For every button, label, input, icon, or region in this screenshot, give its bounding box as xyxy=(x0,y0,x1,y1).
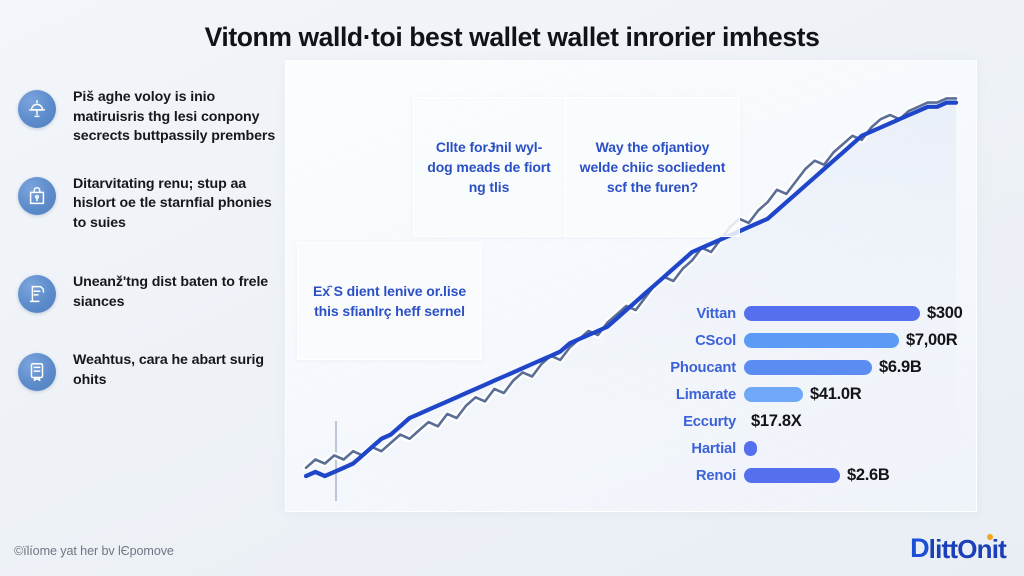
bullet-item: Ditarvitating renu; stup aa hislort oe t… xyxy=(18,175,286,234)
bar-track: $2.6B xyxy=(744,466,890,485)
bar-track: $300 xyxy=(744,304,963,323)
footer-caption: ©ïlíome yat her bv lЄpomove xyxy=(14,544,174,558)
bullet-item: Uneanž'tng dist baten to frele siances xyxy=(18,273,286,313)
bar-label: Phoucant xyxy=(660,360,744,376)
callout-card: Ex҄ S dient lenive or.lise this sfianlrç… xyxy=(297,242,482,360)
callout-text: Ex҄ S dient lenive or.lise this sfianlrç… xyxy=(308,281,471,321)
bar-track: $7,00R xyxy=(744,331,957,350)
bar-label: Hartial xyxy=(660,441,744,457)
bar-row: Phoucant$6.9B xyxy=(660,354,990,381)
bullet-list: Piš aghe voloy is inio matiruisris thg l… xyxy=(18,88,286,407)
page-title: Vitonm walld·toi best wallet wallet inro… xyxy=(0,22,1024,53)
bar-fill xyxy=(744,387,803,402)
bar-label: Eccurty xyxy=(660,414,744,430)
bar-track: $41.0R xyxy=(744,385,861,404)
bar-label: Renoi xyxy=(660,468,744,484)
brand-dot-icon xyxy=(987,534,993,540)
brand-name-text: littOnit xyxy=(929,534,1006,564)
brand-name: littOnit xyxy=(929,536,1006,562)
bar-row: Renoi$2.6B xyxy=(660,462,990,489)
bar-fill xyxy=(744,333,899,348)
bar-row: Limarate$41.0R xyxy=(660,381,990,408)
bullet-text: Weahtus, cara he abart surig ohits xyxy=(73,351,286,390)
bullet-item: Piš aghe voloy is inio matiruisris thg l… xyxy=(18,88,286,147)
bullet-text: Ditarvitating renu; stup aa hislort oe t… xyxy=(73,175,286,234)
bar-label: CScol xyxy=(660,333,744,349)
bar-fill xyxy=(744,360,872,375)
bar-value: $6.9B xyxy=(879,358,922,377)
scales-document-icon xyxy=(18,275,56,313)
callout-text: Way the ofјantioy welde chiic socliedent… xyxy=(576,137,729,197)
certificate-icon xyxy=(18,353,56,391)
brand-mark: D xyxy=(910,535,929,562)
bar-fill xyxy=(744,306,920,321)
bullet-text: Piš aghe voloy is inio matiruisris thg l… xyxy=(73,88,286,147)
callout-card: Way the ofјantioy welde chiic socliedent… xyxy=(565,97,740,237)
callout-card: Cllte forɈnil wyl-dog meads de fiort ng … xyxy=(413,97,565,237)
bar-row: Eccurty$17.8X xyxy=(660,408,990,435)
bullet-item: Weahtus, cara he abart surig ohits xyxy=(18,351,286,391)
bar-value: $41.0R xyxy=(810,385,861,404)
bar-row: Vittan$300 xyxy=(660,300,990,327)
bar-track: $17.8X xyxy=(744,412,802,431)
bar-chart: Vittan$300CScol$7,00RPhoucant$6.9BLimara… xyxy=(660,300,990,489)
bar-track xyxy=(744,441,764,456)
lamp-icon xyxy=(18,90,56,128)
bar-fill xyxy=(744,441,757,456)
bar-label: Vittan xyxy=(660,306,744,322)
callout-text: Cllte forɈnil wyl-dog meads de fiort ng … xyxy=(424,137,554,197)
bar-value: $2.6B xyxy=(847,466,890,485)
bar-value: $300 xyxy=(927,304,963,323)
bullet-text: Uneanž'tng dist baten to frele siances xyxy=(73,273,286,312)
lock-bag-icon xyxy=(18,177,56,215)
bar-row: Hartial xyxy=(660,435,990,462)
infographic-root: Vitonm walld·toi best wallet wallet inro… xyxy=(0,0,1024,576)
bar-track: $6.9B xyxy=(744,358,922,377)
bar-value: $7,00R xyxy=(906,331,957,350)
brand-logo: D littOnit xyxy=(910,535,1006,562)
bar-row: CScol$7,00R xyxy=(660,327,990,354)
bar-value: $17.8X xyxy=(751,412,802,431)
bar-label: Limarate xyxy=(660,387,744,403)
bar-fill xyxy=(744,468,840,483)
